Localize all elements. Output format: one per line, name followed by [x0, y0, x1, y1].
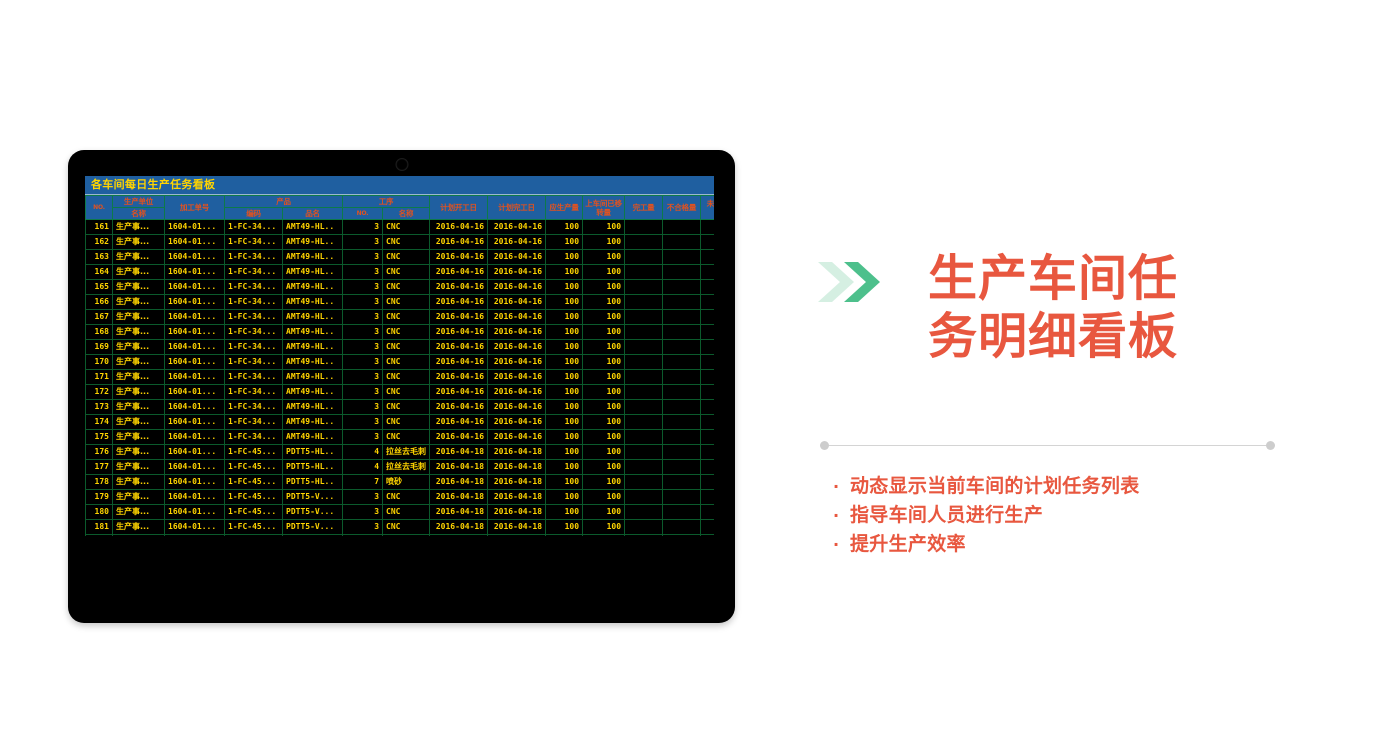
cell-计划开工日: 2016-04-16	[430, 385, 488, 400]
cell-计划完工日: 2016-04-16	[488, 325, 546, 340]
cell-产品品名: PDTT5-V...	[283, 520, 343, 535]
cell-不合格量	[663, 535, 701, 537]
cell-产品编码: 1-FC-34...	[225, 400, 283, 415]
cell-上车间已移转量: 100	[583, 430, 625, 445]
cell-上车间已移转量: 100	[583, 220, 625, 235]
cell-计划完工日: 2016-04-18	[488, 520, 546, 535]
cell-上车间已移转量: 100	[583, 475, 625, 490]
cell-不合格量	[663, 415, 701, 430]
cell-加工单号: 1604-01...	[165, 265, 225, 280]
divider-dot-right	[1266, 441, 1275, 450]
cell-工序名称: CNC	[383, 430, 430, 445]
cell-生产单位名称: 生产事...	[113, 235, 165, 250]
cell-上车间已移转量: 100	[583, 460, 625, 475]
cell-产品品名: AMT49-HL..	[283, 370, 343, 385]
cell-加工单号: 1604-01...	[165, 445, 225, 460]
col-group-process: 工序	[343, 196, 430, 208]
camera-icon	[395, 158, 408, 171]
cell-完工量	[625, 220, 663, 235]
cell-工序名称: CNC	[383, 340, 430, 355]
cell-生产单位名称: 生产事...	[113, 295, 165, 310]
cell-工序NO.: 3	[343, 340, 383, 355]
cell-产品品名: AMT49-HL..	[283, 400, 343, 415]
header-row-top: NO. 生产单位 加工单号 产品 工序 计划开工日 计划完工日 应生产量 上车间…	[86, 196, 715, 208]
cell-未完成量: 100	[701, 250, 714, 265]
bullet-marker-icon: ·	[833, 502, 850, 530]
cell-产品编码: 1-FC-34...	[225, 385, 283, 400]
cell-工序名称: 拉丝去毛刺	[383, 460, 430, 475]
cell-完工量	[625, 445, 663, 460]
cell-完工量	[625, 325, 663, 340]
cell-NO.: 176	[86, 445, 113, 460]
cell-计划完工日: 2016-04-16	[488, 430, 546, 445]
cell-工序NO.: 3	[343, 520, 383, 535]
cell-工序NO.: 3	[343, 505, 383, 520]
cell-生产单位名称: 生产事...	[113, 400, 165, 415]
cell-计划完工日: 2016-04-16	[488, 310, 546, 325]
table-row[interactable]: 177生产事...1604-01...1-FC-45...PDTT5-HL..4…	[86, 460, 715, 475]
cell-工序NO.: 3	[343, 250, 383, 265]
cell-计划完工日: 2016-04-16	[488, 280, 546, 295]
cell-产品品名: AMT49-HL..	[283, 355, 343, 370]
cell-工序名称: CNC	[383, 415, 430, 430]
table-row[interactable]: 172生产事...1604-01...1-FC-34...AMT49-HL..3…	[86, 385, 715, 400]
cell-未完成量: 100	[701, 310, 714, 325]
cell-不合格量	[663, 505, 701, 520]
table-row[interactable]: 162生产事...1604-01...1-FC-34...AMT49-HL..3…	[86, 235, 715, 250]
double-chevron-icon	[818, 260, 890, 309]
cell-不合格量	[663, 235, 701, 250]
table-header: NO. 生产单位 加工单号 产品 工序 计划开工日 计划完工日 应生产量 上车间…	[86, 196, 715, 220]
cell-应生产量: 100	[546, 460, 583, 475]
cell-应生产量: 100	[546, 370, 583, 385]
cell-产品编码: 1-FC-34...	[225, 235, 283, 250]
kanban-title: 各车间每日生产任务看板	[85, 176, 714, 195]
col-no: NO.	[86, 196, 113, 220]
cell-工序NO.: 3	[343, 400, 383, 415]
cell-应生产量: 100	[546, 250, 583, 265]
cell-未完成量: 100	[701, 340, 714, 355]
headline-block: 生产车间任 务明细看板	[818, 250, 1318, 366]
cell-计划完工日: 2016-04-18	[488, 460, 546, 475]
cell-计划开工日: 2016-04-16	[430, 415, 488, 430]
cell-完工量	[625, 415, 663, 430]
cell-工序名称: CNC	[383, 400, 430, 415]
col-completed-qty: 完工量	[625, 196, 663, 220]
cell-上车间已移转量: 100	[583, 400, 625, 415]
kanban-app: 各车间每日生产任务看板 NO. 生产单位 加工单号	[85, 176, 714, 536]
cell-不合格量	[663, 445, 701, 460]
cell-生产单位名称: 生产事...	[113, 355, 165, 370]
cell-产品品名: AMT49-HL..	[283, 340, 343, 355]
cell-生产单位名称: 生产事...	[113, 340, 165, 355]
cell-产品编码: 1-FC-34...	[225, 310, 283, 325]
cell-生产单位名称: 生产事...	[113, 310, 165, 325]
cell-工序名称: CNC	[383, 535, 430, 537]
cell-计划完工日: 2016-04-18	[488, 505, 546, 520]
cell-不合格量	[663, 385, 701, 400]
table-row[interactable]: 170生产事...1604-01...1-FC-34...AMT49-HL..3…	[86, 355, 715, 370]
cell-加工单号: 1604-01...	[165, 385, 225, 400]
cell-上车间已移转量: 100	[583, 370, 625, 385]
cell-计划开工日: 2016-04-16	[430, 295, 488, 310]
col-process-no: NO.	[343, 208, 383, 220]
cell-加工单号: 1604-01...	[165, 310, 225, 325]
cell-产品编码: 1-FC-34...	[225, 220, 283, 235]
cell-工序NO.: 3	[343, 310, 383, 325]
cell-未完成量: 100	[701, 475, 714, 490]
cell-产品品名: AMT49-HL..	[283, 310, 343, 325]
table-row[interactable]: 163生产事...1604-01...1-FC-34...AMT49-HL..3…	[86, 250, 715, 265]
cell-生产单位名称: 生产事...	[113, 370, 165, 385]
cell-工序NO.: 3	[343, 325, 383, 340]
cell-产品编码: 1-FC-45...	[225, 445, 283, 460]
cell-NO.: 167	[86, 310, 113, 325]
cell-计划开工日: 2016-04-16	[430, 220, 488, 235]
table-row[interactable]: 167生产事...1604-01...1-FC-34...AMT49-HL..3…	[86, 310, 715, 325]
cell-产品品名: AMT49-HL..	[283, 295, 343, 310]
cell-计划完工日: 2016-04-16	[488, 400, 546, 415]
cell-工序名称: CNC	[383, 220, 430, 235]
cell-工序名称: CNC	[383, 250, 430, 265]
cell-上车间已移转量: 100	[583, 280, 625, 295]
cell-生产单位名称: 生产事...	[113, 430, 165, 445]
col-transferred-qty: 上车间已移转量	[583, 196, 625, 220]
cell-完工量	[625, 235, 663, 250]
cell-不合格量	[663, 520, 701, 535]
cell-应生产量: 100	[546, 415, 583, 430]
cell-工序NO.: 3	[343, 220, 383, 235]
table-body: 161生产事...1604-01...1-FC-34...AMT49-HL..3…	[86, 220, 715, 537]
divider-line	[829, 445, 1266, 446]
cell-应生产量: 100	[546, 430, 583, 445]
table-row[interactable]: 164生产事...1604-01...1-FC-34...AMT49-HL..3…	[86, 265, 715, 280]
col-process-name: 名称	[383, 208, 430, 220]
cell-产品品名: AMT49-HL..	[283, 265, 343, 280]
bullet-marker-icon: ·	[833, 531, 850, 559]
cell-工序名称: CNC	[383, 355, 430, 370]
cell-产品编码: 1-FC-34...	[225, 355, 283, 370]
page-title: 生产车间任 务明细看板	[928, 250, 1178, 366]
table-row[interactable]: 175生产事...1604-01...1-FC-34...AMT49-HL..3…	[86, 430, 715, 445]
cell-产品品名: AMT49-HL..	[283, 220, 343, 235]
cell-应生产量: 100	[546, 325, 583, 340]
table-row[interactable]: 169生产事...1604-01...1-FC-34...AMT49-HL..3…	[86, 340, 715, 355]
cell-加工单号: 1604-01...	[165, 400, 225, 415]
list-item-label: 提升生产效率	[850, 533, 966, 555]
cell-工序名称: CNC	[383, 325, 430, 340]
cell-NO.: 170	[86, 355, 113, 370]
cell-计划完工日: 2016-04-18	[488, 445, 546, 460]
cell-产品编码: 1-FC-45...	[225, 490, 283, 505]
cell-产品编码: 1-FC-34...	[225, 340, 283, 355]
cell-加工单号: 1604-01...	[165, 220, 225, 235]
table-row[interactable]: 180生产事...1604-01...1-FC-45...PDTT5-V...3…	[86, 505, 715, 520]
cell-计划开工日: 2016-04-18	[430, 475, 488, 490]
cell-完工量	[625, 385, 663, 400]
cell-上车间已移转量: 100	[583, 520, 625, 535]
col-unit-name: 名称	[113, 208, 165, 220]
table-row[interactable]: 168生产事...1604-01...1-FC-34...AMT49-HL..3…	[86, 325, 715, 340]
cell-应生产量: 100	[546, 265, 583, 280]
cell-计划完工日: 2016-04-16	[488, 250, 546, 265]
cell-不合格量	[663, 400, 701, 415]
cell-加工单号: 1604-01...	[165, 250, 225, 265]
cell-NO.: 177	[86, 460, 113, 475]
col-remaining-qty: 未完成量	[701, 196, 714, 220]
cell-产品编码: 1-FC-45...	[225, 520, 283, 535]
cell-未完成量: 100	[701, 415, 714, 430]
cell-NO.: 179	[86, 490, 113, 505]
cell-产品编码: 1-FC-45...	[225, 460, 283, 475]
cell-NO.: 182	[86, 535, 113, 537]
cell-计划开工日: 2016-04-18	[430, 445, 488, 460]
cell-上车间已移转量: 100	[583, 415, 625, 430]
cell-未完成量: 100	[701, 535, 714, 537]
cell-完工量	[625, 460, 663, 475]
table-row[interactable]: 165生产事...1604-01...1-FC-34...AMT49-HL..3…	[86, 280, 715, 295]
cell-产品编码: 1-FC-34...	[225, 430, 283, 445]
cell-产品品名: AMT49-HL..	[283, 235, 343, 250]
cell-工序NO.: 3	[343, 490, 383, 505]
cell-加工单号: 1604-01...	[165, 535, 225, 537]
table-row[interactable]: 166生产事...1604-01...1-FC-34...AMT49-HL..3…	[86, 295, 715, 310]
cell-计划完工日: 2016-04-16	[488, 415, 546, 430]
cell-计划开工日: 2016-04-16	[430, 430, 488, 445]
col-plan-start-date: 计划开工日	[430, 196, 488, 220]
table-row[interactable]: 179生产事...1604-01...1-FC-45...PDTT5-V...3…	[86, 490, 715, 505]
cell-工序NO.: 3	[343, 280, 383, 295]
table-row[interactable]: 182生产事...1604-01...1-FC-45...PDTT5-V...3…	[86, 535, 715, 537]
cell-产品编码: 1-FC-45...	[225, 535, 283, 537]
bullet-marker-icon: ·	[833, 473, 850, 501]
cell-产品编码: 1-FC-34...	[225, 265, 283, 280]
cell-NO.: 181	[86, 520, 113, 535]
cell-上车间已移转量: 100	[583, 265, 625, 280]
cell-完工量	[625, 280, 663, 295]
cell-计划完工日: 2016-04-18	[488, 535, 546, 537]
cell-不合格量	[663, 460, 701, 475]
cell-完工量	[625, 400, 663, 415]
cell-不合格量	[663, 370, 701, 385]
cell-完工量	[625, 430, 663, 445]
cell-未完成量: 100	[701, 445, 714, 460]
cell-生产单位名称: 生产事...	[113, 220, 165, 235]
cell-NO.: 162	[86, 235, 113, 250]
cell-工序名称: CNC	[383, 310, 430, 325]
production-task-table: NO. 生产单位 加工单号 产品 工序 计划开工日 计划完工日 应生产量 上车间…	[85, 195, 714, 536]
cell-生产单位名称: 生产事...	[113, 475, 165, 490]
cell-应生产量: 100	[546, 310, 583, 325]
cell-产品编码: 1-FC-34...	[225, 325, 283, 340]
cell-产品品名: PDTT5-HL..	[283, 445, 343, 460]
cell-工序NO.: 3	[343, 265, 383, 280]
cell-工序NO.: 3	[343, 295, 383, 310]
cell-工序NO.: 3	[343, 355, 383, 370]
col-defect-qty: 不合格量	[663, 196, 701, 220]
list-item: ·提升生产效率	[833, 530, 1140, 559]
cell-产品品名: PDTT5-HL..	[283, 460, 343, 475]
cell-未完成量: 100	[701, 490, 714, 505]
cell-应生产量: 100	[546, 355, 583, 370]
cell-产品编码: 1-FC-45...	[225, 505, 283, 520]
cell-未完成量: 100	[701, 280, 714, 295]
col-group-unit: 生产单位	[113, 196, 165, 208]
cell-计划完工日: 2016-04-18	[488, 475, 546, 490]
cell-计划开工日: 2016-04-16	[430, 325, 488, 340]
cell-上车间已移转量: 100	[583, 325, 625, 340]
cell-产品品名: PDTT5-V...	[283, 505, 343, 520]
cell-不合格量	[663, 475, 701, 490]
cell-上车间已移转量: 100	[583, 355, 625, 370]
cell-工序名称: CNC	[383, 235, 430, 250]
cell-加工单号: 1604-01...	[165, 505, 225, 520]
cell-工序NO.: 3	[343, 235, 383, 250]
col-planned-qty: 应生产量	[546, 196, 583, 220]
cell-产品品名: PDTT5-V...	[283, 490, 343, 505]
cell-上车间已移转量: 100	[583, 310, 625, 325]
cell-加工单号: 1604-01...	[165, 520, 225, 535]
cell-应生产量: 100	[546, 505, 583, 520]
cell-完工量	[625, 490, 663, 505]
cell-应生产量: 100	[546, 220, 583, 235]
cell-不合格量	[663, 250, 701, 265]
cell-上车间已移转量: 100	[583, 535, 625, 537]
cell-工序名称: CNC	[383, 370, 430, 385]
cell-工序名称: CNC	[383, 280, 430, 295]
cell-计划完工日: 2016-04-16	[488, 235, 546, 250]
cell-计划开工日: 2016-04-18	[430, 505, 488, 520]
cell-计划开工日: 2016-04-16	[430, 400, 488, 415]
cell-产品编码: 1-FC-34...	[225, 280, 283, 295]
cell-不合格量	[663, 265, 701, 280]
table-row[interactable]: 171生产事...1604-01...1-FC-34...AMT49-HL..3…	[86, 370, 715, 385]
cell-计划开工日: 2016-04-16	[430, 280, 488, 295]
cell-未完成量: 100	[701, 325, 714, 340]
cell-加工单号: 1604-01...	[165, 340, 225, 355]
cell-计划开工日: 2016-04-16	[430, 250, 488, 265]
cell-NO.: 173	[86, 400, 113, 415]
cell-完工量	[625, 475, 663, 490]
cell-完工量	[625, 505, 663, 520]
cell-工序NO.: 3	[343, 415, 383, 430]
cell-上车间已移转量: 100	[583, 385, 625, 400]
cell-未完成量: 100	[701, 385, 714, 400]
cell-上车间已移转量: 100	[583, 505, 625, 520]
cell-NO.: 178	[86, 475, 113, 490]
cell-计划开工日: 2016-04-16	[430, 265, 488, 280]
cell-不合格量	[663, 490, 701, 505]
cell-计划完工日: 2016-04-16	[488, 370, 546, 385]
cell-产品品名: PDTT5-V...	[283, 535, 343, 537]
table-row[interactable]: 176生产事...1604-01...1-FC-45...PDTT5-HL..4…	[86, 445, 715, 460]
cell-工序NO.: 4	[343, 445, 383, 460]
cell-NO.: 168	[86, 325, 113, 340]
cell-加工单号: 1604-01...	[165, 430, 225, 445]
col-group-product: 产品	[225, 196, 343, 208]
cell-未完成量: 100	[701, 370, 714, 385]
cell-产品品名: AMT49-HL..	[283, 415, 343, 430]
cell-产品编码: 1-FC-45...	[225, 475, 283, 490]
cell-不合格量	[663, 340, 701, 355]
table-row[interactable]: 178生产事...1604-01...1-FC-45...PDTT5-HL..7…	[86, 475, 715, 490]
table-row[interactable]: 173生产事...1604-01...1-FC-34...AMT49-HL..3…	[86, 400, 715, 415]
cell-NO.: 166	[86, 295, 113, 310]
cell-未完成量: 100	[701, 295, 714, 310]
cell-生产单位名称: 生产事...	[113, 415, 165, 430]
cell-加工单号: 1604-01...	[165, 370, 225, 385]
col-plan-end-date: 计划完工日	[488, 196, 546, 220]
cell-应生产量: 100	[546, 490, 583, 505]
tablet-screen: 各车间每日生产任务看板 NO. 生产单位 加工单号	[85, 176, 714, 536]
list-item: ·指导车间人员进行生产	[833, 501, 1140, 530]
title-row: 生产车间任 务明细看板	[818, 250, 1318, 366]
cell-完工量	[625, 370, 663, 385]
cell-NO.: 175	[86, 430, 113, 445]
cell-不合格量	[663, 280, 701, 295]
list-item-label: 动态显示当前车间的计划任务列表	[850, 475, 1140, 497]
cell-NO.: 163	[86, 250, 113, 265]
cell-生产单位名称: 生产事...	[113, 325, 165, 340]
cell-工序名称: CNC	[383, 520, 430, 535]
divider-dot-left	[820, 441, 829, 450]
col-product-name: 品名	[283, 208, 343, 220]
cell-未完成量: 100	[701, 355, 714, 370]
cell-加工单号: 1604-01...	[165, 475, 225, 490]
cell-生产单位名称: 生产事...	[113, 280, 165, 295]
col-work-order: 加工单号	[165, 196, 225, 220]
cell-未完成量: 100	[701, 235, 714, 250]
cell-未完成量: 100	[701, 220, 714, 235]
cell-应生产量: 100	[546, 340, 583, 355]
cell-加工单号: 1604-01...	[165, 280, 225, 295]
table-row[interactable]: 161生产事...1604-01...1-FC-34...AMT49-HL..3…	[86, 220, 715, 235]
cell-未完成量: 100	[701, 430, 714, 445]
cell-生产单位名称: 生产事...	[113, 445, 165, 460]
cell-加工单号: 1604-01...	[165, 295, 225, 310]
cell-工序NO.: 3	[343, 430, 383, 445]
cell-工序NO.: 3	[343, 385, 383, 400]
cell-生产单位名称: 生产事...	[113, 265, 165, 280]
cell-工序NO.: 3	[343, 535, 383, 537]
cell-应生产量: 100	[546, 475, 583, 490]
cell-工序名称: CNC	[383, 295, 430, 310]
cell-应生产量: 100	[546, 445, 583, 460]
cell-未完成量: 100	[701, 265, 714, 280]
table-row[interactable]: 174生产事...1604-01...1-FC-34...AMT49-HL..3…	[86, 415, 715, 430]
cell-产品品名: AMT49-HL..	[283, 430, 343, 445]
cell-应生产量: 100	[546, 535, 583, 537]
cell-上车间已移转量: 100	[583, 340, 625, 355]
cell-未完成量: 100	[701, 460, 714, 475]
cell-应生产量: 100	[546, 385, 583, 400]
cell-完工量	[625, 520, 663, 535]
cell-不合格量	[663, 325, 701, 340]
table-row[interactable]: 181生产事...1604-01...1-FC-45...PDTT5-V...3…	[86, 520, 715, 535]
list-item: ·动态显示当前车间的计划任务列表	[833, 472, 1140, 501]
cell-NO.: 165	[86, 280, 113, 295]
cell-工序名称: 喷砂	[383, 475, 430, 490]
tablet-device-mockup: 各车间每日生产任务看板 NO. 生产单位 加工单号	[68, 150, 735, 623]
cell-计划完工日: 2016-04-16	[488, 340, 546, 355]
cell-工序名称: CNC	[383, 505, 430, 520]
col-product-code: 编码	[225, 208, 283, 220]
cell-产品编码: 1-FC-34...	[225, 250, 283, 265]
cell-NO.: 174	[86, 415, 113, 430]
cell-计划完工日: 2016-04-16	[488, 295, 546, 310]
cell-产品品名: AMT49-HL..	[283, 385, 343, 400]
cell-计划开工日: 2016-04-16	[430, 235, 488, 250]
